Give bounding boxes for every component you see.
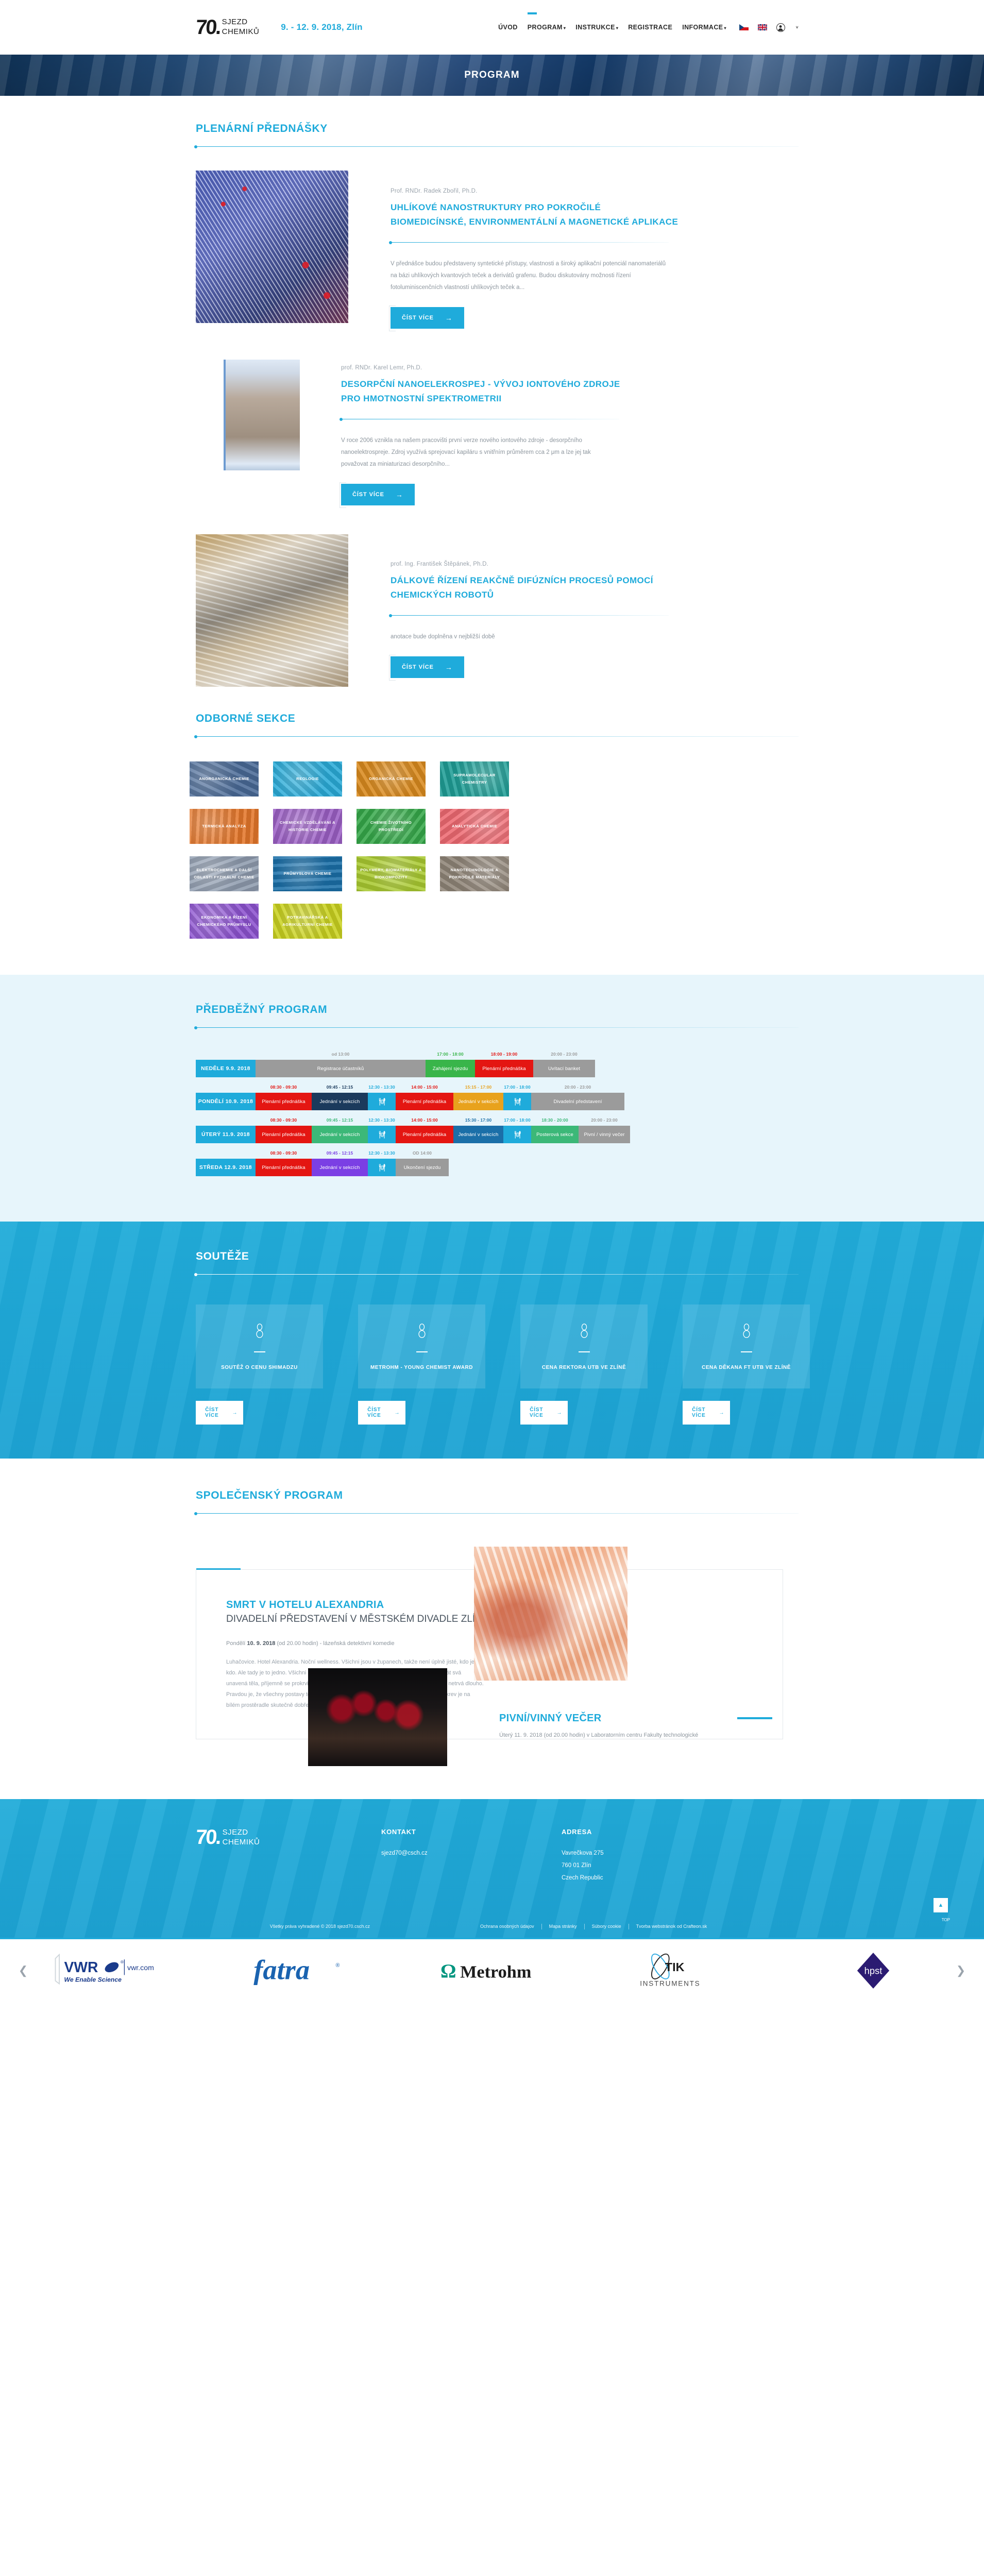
arrow-right-icon: →: [396, 491, 403, 498]
schedule-event-block[interactable]: Jednání v sekcích: [453, 1126, 503, 1143]
competition-buttons: ČÍST VÍCE→ČÍST VÍCE→ČÍST VÍCE→ČÍST VÍCE→: [185, 1401, 799, 1425]
specialist-sections: ODBORNÉ SEKCE ANORGANICKÁ CHEMIEREOLOGIE…: [185, 692, 799, 975]
section-tile-label: EKONOMIKA A ŘÍZENÍ CHEMICKÉHO PRŮMYSLU: [190, 914, 259, 928]
section-tile[interactable]: ANALYTICKÁ CHEMIE: [440, 809, 509, 844]
logo-wordmark: SJEZD CHEMIKŮ: [223, 1828, 260, 1848]
trophy-icon: [254, 1323, 265, 1338]
section-tile-label: ELEKTROCHEMIE A DALŠÍ OBLASTI FYZIKÁLNÍ …: [190, 867, 259, 881]
sponsor-logo-metrohm[interactable]: Ω Metrohm: [415, 1950, 569, 1991]
schedule-time: 17:00 - 18:00: [503, 1084, 531, 1093]
schedule-row: 08:30 - 09:3009:45 - 12:1512:30 - 13:301…: [196, 1084, 799, 1110]
plenary-lecture: prof. RNDr. Karel Lemr, Ph.D. DESORPČNÍ …: [185, 360, 799, 505]
schedule-times: 08:30 - 09:3009:45 - 12:1512:30 - 13:301…: [196, 1117, 799, 1126]
address-line: Vavrečkova 275: [562, 1847, 742, 1859]
logo-wordmark: SJEZD CHEMIKŮ: [222, 18, 260, 37]
nav-item-program[interactable]: PROGRAM▾: [528, 24, 566, 31]
lecture-title[interactable]: DESORPČNÍ NANOELEKROSPEJ - VÝVOJ IONTOVÉ…: [341, 377, 630, 405]
schedule-event-block[interactable]: Plenární přednáška: [256, 1093, 312, 1110]
event-date: 9. - 12. 9. 2018, Zlín: [281, 22, 362, 32]
theatre-image: [474, 1547, 627, 1681]
svg-text:®: ®: [121, 1959, 124, 1964]
lecture-author: prof. RNDr. Karel Lemr, Ph.D.: [341, 365, 799, 371]
schedule-meal-block[interactable]: [368, 1126, 396, 1143]
schedule-times: od 13:0017:00 - 18:0018:00 - 19:0020:00 …: [196, 1052, 799, 1060]
competition-title: METROHM - YOUNG CHEMIST AWARD: [366, 1363, 477, 1373]
section-tile-label: ANORGANICKÁ CHEMIE: [196, 775, 252, 783]
schedule-bar: ÚTERÝ 11.9. 2018Plenární přednáškaJednán…: [196, 1126, 799, 1143]
arrow-right-icon: →: [557, 1410, 563, 1416]
section-tile-label: NANOTECHNOLOGIE A POKROČILÉ MATERIÁLY: [440, 867, 509, 881]
lecture-thumbnail[interactable]: [196, 534, 348, 687]
section-divider: [196, 736, 799, 737]
lecture-abstract: anotace bude doplněna v nejbližší době: [391, 631, 669, 643]
competition-title: CENA DĚKANA FT UTB VE ZLÍNĚ: [691, 1363, 802, 1373]
sponsor-logo-hpst[interactable]: hpst: [796, 1950, 951, 1991]
schedule-time-spacer: [196, 1150, 256, 1159]
competition-button-holder: ČÍST VÍCE→: [358, 1401, 485, 1425]
section-tile-label: CHEMICKÉ VZDĚLÁVÁNÍ A HISTORIE CHEMIE: [273, 819, 342, 834]
lecture-author: prof. Ing. František Štěpánek, Ph.D.: [391, 561, 799, 567]
back-to-top-label[interactable]: TOP: [942, 1918, 950, 1922]
schedule-time: 20:00 - 23:00: [579, 1117, 630, 1126]
read-more-button[interactable]: ČÍST VÍCE→: [520, 1401, 568, 1425]
section-divider: [196, 1513, 799, 1514]
section-divider: [196, 146, 799, 147]
schedule-event-block[interactable]: Posterová sekce: [531, 1126, 579, 1143]
social-program-section: SPOLEČENSKÝ PROGRAM SMRT V HOTELU ALEXAN…: [0, 1459, 984, 1799]
section-tile[interactable]: NANOTECHNOLOGIE A POKROČILÉ MATERIÁLY: [440, 856, 509, 891]
footer-link[interactable]: Tvorba webstránok od Crafteon.sk: [629, 1924, 715, 1929]
section-tiles: ANORGANICKÁ CHEMIEREOLOGIEORGANICKÁ CHEM…: [190, 761, 799, 939]
chevron-down-icon: ▾: [616, 26, 618, 30]
lecture-thumbnail[interactable]: [196, 171, 348, 323]
theatre-title[interactable]: SMRT V HOTELU ALEXANDRIA: [226, 1599, 485, 1611]
accent-bar: [737, 1717, 772, 1719]
page-title: PROGRAM: [464, 70, 520, 81]
chevron-down-icon: ▾: [564, 26, 566, 30]
svg-text:hpst: hpst: [864, 1965, 883, 1976]
schedule-time: od 13:00: [256, 1052, 426, 1060]
schedule-time: 09:45 - 12:15: [312, 1150, 368, 1159]
schedule-event-block[interactable]: Zahájení sjezdu: [426, 1060, 475, 1077]
schedule-time: 12:30 - 13:30: [368, 1084, 396, 1093]
schedule-times: 08:30 - 09:3009:45 - 12:1512:30 - 13:301…: [196, 1084, 799, 1093]
lecture-divider: [341, 419, 619, 419]
address-line: 760 01 Zlín: [562, 1859, 742, 1872]
schedule-bar: STŘEDA 12.9. 2018Plenární přednáškaJedná…: [196, 1159, 799, 1176]
read-more-button[interactable]: ČÍST VÍCE →: [391, 307, 464, 329]
schedule-meal-block[interactable]: [368, 1159, 396, 1176]
copyright-text: Všetky práva vyhradené © 2018 sjezd70.cs…: [270, 1924, 370, 1929]
schedule-day-label: STŘEDA 12.9. 2018: [196, 1159, 256, 1176]
wine-meta: Úterý 11. 9. 2018 (od 20.00 hodin) v Lab…: [499, 1730, 716, 1740]
schedule-time: 15:15 - 17:00: [453, 1084, 503, 1093]
footer-bottom-bar: Všetky práva vyhradené © 2018 sjezd70.cs…: [0, 1917, 984, 1938]
lecture-abstract: V přednášce budou představeny syntetické…: [391, 258, 669, 294]
competition-card[interactable]: CENA REKTORA UTB VE ZLÍNĚ: [520, 1304, 648, 1388]
schedule-event-block[interactable]: Ukončení sjezdu: [396, 1159, 449, 1176]
trophy-icon: [741, 1323, 752, 1338]
schedule-event-block[interactable]: Jednání v sekcích: [453, 1093, 503, 1110]
schedule-time: 17:00 - 18:00: [426, 1052, 475, 1060]
cz-flag-icon[interactable]: [739, 24, 748, 30]
schedule-event-block[interactable]: Pivní / vinný večer: [579, 1126, 630, 1143]
read-more-label: ČÍST VÍCE: [530, 1407, 544, 1418]
arrow-right-icon: →: [719, 1410, 725, 1416]
schedule-heading: PŘEDBĚŽNÝ PROGRAM: [196, 1004, 799, 1016]
read-more-label: ČÍST VÍCE: [692, 1407, 706, 1418]
schedule-meal-block[interactable]: [503, 1126, 531, 1143]
svg-text:Metrohm: Metrohm: [460, 1962, 531, 1981]
sections-heading: ODBORNÉ SEKCE: [196, 713, 799, 725]
footer-links: Ochrana osobných údajovMapa stránkySúbor…: [473, 1924, 714, 1929]
schedule-section: PŘEDBĚŽNÝ PROGRAM od 13:0017:00 - 18:001…: [0, 975, 984, 1222]
plenary-lecture: prof. Ing. František Štěpánek, Ph.D. DÁL…: [185, 534, 799, 687]
section-tile[interactable]: ORGANICKÁ CHEMIE: [357, 761, 426, 796]
schedule-time: 12:30 - 13:30: [368, 1150, 396, 1159]
schedule-bar: NEDĚLE 9.9. 2018Registrace účastníkůZahá…: [196, 1060, 799, 1077]
competition-card[interactable]: SOUTĚŽ O CENU SHIMADZU: [196, 1304, 323, 1388]
svg-text:VWR: VWR: [64, 1958, 98, 1975]
schedule-event-block[interactable]: Plenární přednáška: [396, 1093, 453, 1110]
read-more-button[interactable]: ČÍST VÍCE→: [683, 1401, 730, 1425]
competitions-heading: SOUTĚŽE: [196, 1250, 799, 1263]
schedule-time: 18:00 - 19:00: [475, 1052, 533, 1060]
wine-title[interactable]: PIVNÍ/VINNÝ VEČER: [499, 1713, 601, 1724]
logo-number: 70.: [195, 1828, 220, 1846]
schedule-time: 08:30 - 09:30: [256, 1150, 312, 1159]
lecture-author: Prof. RNDr. Radek Zbořil, Ph.D.: [391, 188, 799, 194]
schedule-day-label: ÚTERÝ 11.9. 2018: [196, 1126, 256, 1143]
section-tile[interactable]: CHEMICKÉ VZDĚLÁVÁNÍ A HISTORIE CHEMIE: [273, 809, 342, 844]
theatre-meta: Pondělí 10. 9. 2018 (od 20.00 hodin) - l…: [226, 1640, 485, 1647]
svg-text:We Enable Science: We Enable Science: [64, 1976, 122, 1983]
schedule-time: 09:45 - 12:15: [312, 1117, 368, 1126]
competition-card[interactable]: CENA DĚKANA FT UTB VE ZLÍNĚ: [683, 1304, 810, 1388]
trophy-icon: [579, 1323, 590, 1338]
sponsors-carousel: ❮ VWR ® vwr.com We Enable Science fatra …: [0, 1938, 984, 2002]
address-heading: ADRESA: [562, 1828, 742, 1836]
sponsor-logo-vwr[interactable]: VWR ® vwr.com We Enable Science: [33, 1950, 188, 1991]
site-logo[interactable]: 70. SJEZD CHEMIKŮ: [196, 18, 259, 37]
cutlery-icon: [378, 1097, 386, 1106]
card-divider: [579, 1351, 590, 1352]
svg-text:TIK: TIK: [665, 1960, 685, 1973]
competition-button-holder: ČÍST VÍCE→: [196, 1401, 323, 1425]
svg-text:vwr.com: vwr.com: [127, 1963, 154, 1972]
schedule-time: 20:00 - 23:00: [533, 1052, 595, 1060]
footer-link[interactable]: Súbory cookie: [585, 1924, 629, 1929]
lecture-thumbnail[interactable]: [224, 360, 300, 470]
gb-flag-icon[interactable]: [758, 24, 767, 30]
schedule-time: 08:30 - 09:30: [256, 1117, 312, 1126]
schedule-event-block[interactable]: Plenární přednáška: [475, 1060, 533, 1077]
schedule-event-block[interactable]: Uvítací banket: [533, 1060, 595, 1077]
section-tile-label: PRŮMYSLOVÁ CHEMIE: [281, 870, 335, 877]
schedule-time: 15:30 - 17:00: [453, 1117, 503, 1126]
schedule-time-spacer: [196, 1084, 256, 1093]
lecture-divider: [391, 615, 669, 616]
svg-text:Ω: Ω: [440, 1960, 456, 1982]
competition-button-holder: ČÍST VÍCE→: [683, 1401, 810, 1425]
competition-title: CENA REKTORA UTB VE ZLÍNĚ: [529, 1363, 639, 1373]
section-tile[interactable]: POTRAVINÁŘSKÁ A AGRIKULTURNÍ CHEMIE: [273, 904, 342, 939]
site-header: 70. SJEZD CHEMIKŮ 9. - 12. 9. 2018, Zlín…: [0, 0, 984, 55]
sponsor-logo-fatra[interactable]: fatra ®: [224, 1950, 379, 1991]
schedule-time: 09:45 - 12:15: [312, 1084, 368, 1093]
schedule-event-block[interactable]: Plenární přednáška: [256, 1159, 312, 1176]
read-more-label: ČÍST VÍCE: [205, 1407, 219, 1418]
section-tile[interactable]: POLYMERY, BIOMATERIÁLY A BIOKOMPOZITY: [357, 856, 426, 891]
section-tile[interactable]: PRŮMYSLOVÁ CHEMIE: [273, 856, 342, 891]
lecture-divider: [391, 242, 669, 243]
schedule-day-label: PONDĚLÍ 10.9. 2018: [196, 1093, 256, 1110]
section-tile-label: CHEMIE ŽIVOTNÍHO PROSTŘEDÍ: [357, 819, 426, 834]
chevron-down-icon: ▾: [724, 26, 726, 30]
address-line: Czech Republic: [562, 1872, 742, 1884]
schedule-row: 08:30 - 09:3009:45 - 12:1512:30 - 13:30O…: [196, 1150, 799, 1176]
competitions-section: SOUTĚŽE SOUTĚŽ O CENU SHIMADZUMETROHM - …: [0, 1222, 984, 1459]
arrow-right-icon: →: [445, 314, 453, 321]
lecture-title[interactable]: UHLÍKOVÉ NANOSTRUKTURY PRO POKROČILÉ BIO…: [391, 200, 679, 229]
schedule-time: 14:00 - 15:00: [396, 1117, 453, 1126]
cutlery-icon: [513, 1097, 522, 1106]
schedule-time: 08:30 - 09:30: [256, 1084, 312, 1093]
schedule-time: 20:00 - 23:00: [531, 1084, 624, 1093]
section-tile-label: POTRAVINÁŘSKÁ A AGRIKULTURNÍ CHEMIE: [273, 914, 342, 928]
arrow-right-icon: →: [445, 664, 453, 671]
competition-title: SOUTĚŽ O CENU SHIMADZU: [204, 1363, 315, 1373]
schedule-time: 18:30 - 20:00: [531, 1117, 579, 1126]
card-divider: [741, 1351, 752, 1352]
logo-number: 70.: [195, 18, 220, 37]
section-tile-label: ANALYTICKÁ CHEMIE: [449, 823, 500, 830]
svg-text:fatra: fatra: [253, 1954, 310, 1985]
plenary-section: PLENÁRNÍ PŘEDNÁŠKY Prof. RNDr. Radek Zbo…: [185, 96, 799, 692]
footer-address: ADRESA Vavrečkova 275 760 01 Zlín Czech …: [562, 1828, 742, 1884]
schedule-event-block[interactable]: Jednání v sekcích: [312, 1093, 368, 1110]
chevron-down-icon[interactable]: ˅: [796, 25, 799, 30]
section-tile[interactable]: TERMICKÁ ANALÝZA: [190, 809, 259, 844]
read-more-button[interactable]: ČÍST VÍCE→: [358, 1401, 405, 1425]
footer-contact: KONTAKT sjezd70@csch.cz: [381, 1828, 562, 1884]
wine-image: [308, 1668, 447, 1766]
schedule-time: 12:30 - 13:30: [368, 1117, 396, 1126]
footer-link[interactable]: Mapa stránky: [542, 1924, 584, 1929]
read-more-button[interactable]: ČÍST VÍCE →: [391, 656, 464, 678]
site-footer: 70. SJEZD CHEMIKŮ KONTAKT sjezd70@csch.c…: [0, 1799, 984, 1937]
schedule-time: 17:00 - 18:00: [503, 1117, 531, 1126]
read-more-button[interactable]: ČÍST VÍCE→: [196, 1401, 243, 1425]
competition-cards: SOUTĚŽ O CENU SHIMADZUMETROHM - YOUNG CH…: [185, 1304, 799, 1388]
section-tile[interactable]: CHEMIE ŽIVOTNÍHO PROSTŘEDÍ: [357, 809, 426, 844]
nav-item-registrace[interactable]: REGISTRACE: [628, 24, 672, 31]
section-divider: [196, 1274, 799, 1275]
trophy-icon: [416, 1323, 428, 1338]
chevron-up-icon: ▲: [938, 1902, 944, 1908]
schedule-time: 14:00 - 15:00: [396, 1084, 453, 1093]
nav-item-uvod[interactable]: ÚVOD: [498, 24, 518, 31]
plenary-lecture: Prof. RNDr. Radek Zbořil, Ph.D. UHLÍKOVÉ…: [185, 171, 799, 329]
social-heading: SPOLEČENSKÝ PROGRAM: [196, 1489, 799, 1502]
section-tile-label: REOLOGIE: [293, 775, 322, 783]
back-to-top-button[interactable]: ▲: [934, 1898, 948, 1912]
card-divider: [416, 1351, 428, 1352]
schedule-time-spacer: [196, 1052, 256, 1060]
nav-item-informace[interactable]: INFORMACE▾: [682, 24, 726, 31]
schedule-event-block[interactable]: Registrace účastníků: [256, 1060, 426, 1077]
plenary-heading: PLENÁRNÍ PŘEDNÁŠKY: [196, 123, 799, 135]
card-divider: [254, 1351, 265, 1352]
chevron-right-icon[interactable]: ❯: [951, 1964, 971, 1977]
contact-email[interactable]: sjezd70@csch.cz: [381, 1847, 562, 1859]
arrow-right-icon: →: [232, 1410, 238, 1416]
svg-text:INSTRUMENTS: INSTRUMENTS: [640, 1979, 700, 1987]
schedule-event-block[interactable]: Divadelní představení: [531, 1093, 624, 1110]
schedule-time: OD 14:00: [396, 1150, 449, 1159]
schedule-row: od 13:0017:00 - 18:0018:00 - 19:0020:00 …: [196, 1052, 799, 1077]
section-tile[interactable]: EKONOMIKA A ŘÍZENÍ CHEMICKÉHO PRŮMYSLU: [190, 904, 259, 939]
schedule-table: od 13:0017:00 - 18:0018:00 - 19:0020:00 …: [185, 1052, 799, 1176]
cutlery-icon: [378, 1130, 386, 1139]
schedule-times: 08:30 - 09:3009:45 - 12:1512:30 - 13:30O…: [196, 1150, 799, 1159]
section-tile[interactable]: ANORGANICKÁ CHEMIE: [190, 761, 259, 796]
chevron-left-icon[interactable]: ❮: [13, 1964, 33, 1977]
svg-text:®: ®: [335, 1962, 340, 1969]
schedule-meal-block[interactable]: [503, 1093, 531, 1110]
contact-heading: KONTAKT: [381, 1828, 562, 1836]
nav-item-instrukce[interactable]: INSTRUKCE▾: [575, 24, 618, 31]
schedule-day-label: NEDĚLE 9.9. 2018: [196, 1060, 256, 1077]
footer-logo[interactable]: 70. SJEZD CHEMIKŮ: [185, 1828, 381, 1884]
section-tile-label: SUPRAMOLECULAR CHEMISTRY: [440, 772, 509, 786]
schedule-event-block[interactable]: Jednání v sekcích: [312, 1126, 368, 1143]
cutlery-icon: [513, 1130, 522, 1139]
sponsor-logo-optik-instruments[interactable]: TIK INSTRUMENTS: [605, 1950, 760, 1991]
user-icon[interactable]: [776, 23, 785, 32]
section-tile[interactable]: REOLOGIE: [273, 761, 342, 796]
page-hero: PROGRAM: [0, 55, 984, 96]
section-tile-label: ORGANICKÁ CHEMIE: [366, 775, 416, 783]
read-more-button[interactable]: ČÍST VÍCE →: [341, 484, 415, 505]
read-more-label: ČÍST VÍCE: [367, 1407, 381, 1418]
section-tile[interactable]: SUPRAMOLECULAR CHEMISTRY: [440, 761, 509, 796]
theatre-subtitle: DIVADELNÍ PŘEDSTAVENÍ V MĚSTSKÉM DIVADLE…: [226, 1613, 485, 1626]
schedule-event-block[interactable]: Jednání v sekcích: [312, 1159, 368, 1176]
section-tile-label: POLYMERY, BIOMATERIÁLY A BIOKOMPOZITY: [357, 867, 426, 881]
lecture-title[interactable]: DÁLKOVÉ ŘÍZENÍ REAKČNĚ DIFÚZNÍCH PROCESŮ…: [391, 573, 679, 602]
schedule-event-block[interactable]: Plenární přednáška: [396, 1126, 453, 1143]
competition-card[interactable]: METROHM - YOUNG CHEMIST AWARD: [358, 1304, 485, 1388]
section-tile-label: TERMICKÁ ANALÝZA: [199, 823, 249, 830]
schedule-meal-block[interactable]: [368, 1093, 396, 1110]
main-navigation: ÚVOD PROGRAM▾ INSTRUKCE▾ REGISTRACE INFO…: [498, 23, 799, 32]
lecture-abstract: V roce 2006 vznikla na našem pracovišti …: [341, 435, 619, 470]
schedule-time-spacer: [196, 1117, 256, 1126]
section-tile[interactable]: ELEKTROCHEMIE A DALŠÍ OBLASTI FYZIKÁLNÍ …: [190, 856, 259, 891]
schedule-row: 08:30 - 09:3009:45 - 12:1512:30 - 13:301…: [196, 1117, 799, 1143]
section-divider: [196, 1027, 799, 1028]
cutlery-icon: [378, 1163, 386, 1172]
schedule-event-block[interactable]: Plenární přednáška: [256, 1126, 312, 1143]
competition-button-holder: ČÍST VÍCE→: [520, 1401, 648, 1425]
footer-link[interactable]: Ochrana osobných údajov: [473, 1924, 541, 1929]
arrow-right-icon: →: [395, 1410, 400, 1416]
schedule-bar: PONDĚLÍ 10.9. 2018Plenární přednáškaJedn…: [196, 1093, 799, 1110]
